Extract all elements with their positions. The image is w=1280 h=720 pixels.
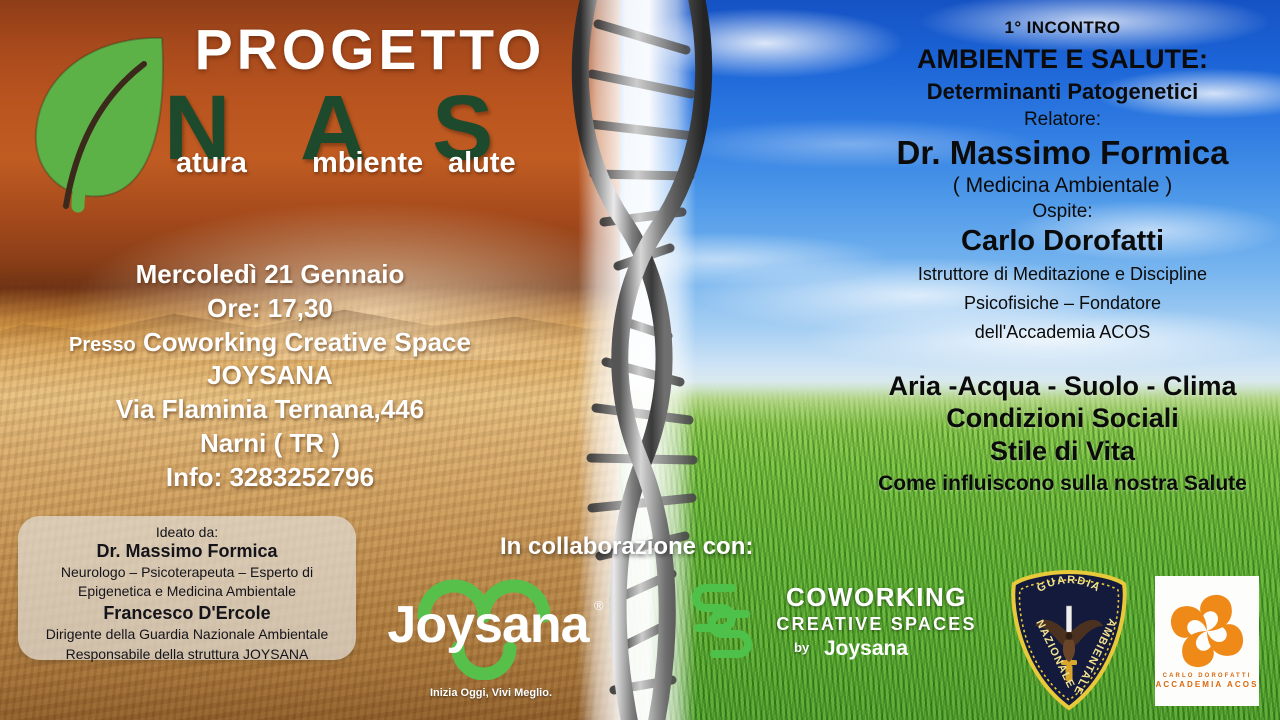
svg-text:®: ®	[594, 598, 604, 613]
coworking-by-word: by	[794, 640, 809, 655]
credits-role-1a: Neurologo – Psicoterapeuta – Esperto di	[18, 563, 356, 581]
talk-guest-bio-2: Psicofisiche – Fondatore	[845, 291, 1280, 316]
logo-coworking: COWORKING CREATIVE SPACES by Joysana	[676, 578, 976, 670]
credits-role-1b: Epigenetica e Medicina Ambientale	[18, 582, 356, 600]
credits-name-2: Francesco D'Ercole	[18, 603, 356, 624]
credits-name-1: Dr. Massimo Formica	[18, 541, 356, 562]
talk-speaker-paren: ( Medicina Ambientale )	[845, 174, 1280, 198]
coworking-line-2: CREATIVE SPACES	[774, 614, 979, 635]
talk-subtitle: Determinanti Patogenetici	[845, 79, 1280, 105]
event-venue-name: JOYSANA	[40, 359, 500, 393]
acos-line-1: CARLO DOROFATTI	[1163, 673, 1252, 679]
brand-block: PROGETTO N A S atura mbiente alute	[160, 22, 580, 181]
coworking-by-line: by Joysana	[794, 634, 914, 660]
theme-line-1: Aria -Acqua - Suolo - Clima	[845, 370, 1280, 402]
talk-guest-bio-3: dell'Accademia ACOS	[845, 320, 1280, 345]
brand-word-ambiente: mbiente	[312, 147, 423, 180]
brand-nas-words: atura mbiente alute	[160, 147, 580, 181]
brand-word-natura: atura	[176, 147, 247, 180]
event-venue-prefix: Presso	[69, 334, 136, 356]
svg-text:Joysana: Joysana	[387, 596, 590, 654]
event-venue-line: Presso Coworking Creative Space	[40, 326, 500, 360]
logo-guardia-nazionale-ambientale: GUARDIA NAZIONALE AMBIENTALE	[1006, 566, 1132, 714]
theme-line-2: Condizioni Sociali	[845, 402, 1280, 434]
acos-line-2: ACCADEMIA ACOS	[1155, 680, 1258, 689]
event-address: Via Flaminia Ternana,446	[40, 393, 500, 427]
svg-text:Joysana: Joysana	[824, 637, 908, 660]
talk-details: 1° INCONTRO AMBIENTE E SALUTE: Determina…	[845, 18, 1280, 346]
theme-line-3: Stile di Vita	[845, 435, 1280, 467]
spiral-icon	[1165, 589, 1249, 673]
brand-word-salute: alute	[448, 147, 516, 180]
credits-lead: Ideato da:	[18, 524, 356, 540]
talk-speaker-name: Dr. Massimo Formica	[845, 134, 1280, 172]
leaf-icon	[22, 28, 172, 218]
talk-title: AMBIENTE E SALUTE:	[845, 44, 1280, 75]
coworking-mark-icon	[676, 578, 768, 664]
brand-progetto: PROGETTO	[160, 22, 580, 79]
theme-line-4: Come influiscono sulla nostra Salute	[845, 471, 1280, 496]
coworking-joysana-icon: Joysana	[818, 634, 914, 660]
event-date: Mercoledì 21 Gennaio	[40, 258, 500, 292]
credits-role-2b: Responsabile della struttura JOYSANA	[18, 645, 356, 663]
coworking-line-1: COWORKING	[774, 582, 979, 613]
event-details: Mercoledì 21 Gennaio Ore: 17,30 Presso C…	[40, 258, 500, 495]
collaboration-heading: In collaborazione con:	[500, 533, 800, 561]
logo-acos: CARLO DOROFATTI ACCADEMIA ACOS	[1155, 576, 1259, 706]
event-time: Ore: 17,30	[40, 292, 500, 326]
talk-guest-bio-1: Istruttore di Meditazione e Discipline	[845, 262, 1280, 287]
coworking-text: COWORKING CREATIVE SPACES	[774, 582, 979, 635]
talk-speaker-label: Relatore:	[845, 109, 1280, 131]
joysana-wordmark-icon: Joysana ®	[366, 568, 616, 680]
credits-box: Ideato da: Dr. Massimo Formica Neurologo…	[18, 516, 356, 660]
poster-canvas: PROGETTO N A S atura mbiente alute Merco…	[0, 0, 1280, 720]
themes-block: Aria -Acqua - Suolo - Clima Condizioni S…	[845, 370, 1280, 496]
event-city: Narni ( TR )	[40, 427, 500, 461]
logo-joysana: Joysana ® Inizia Oggi, Vivi Meglio.	[366, 568, 616, 698]
talk-guest-label: Ospite:	[845, 201, 1280, 223]
talk-guest-name: Carlo Dorofatti	[845, 225, 1280, 258]
event-info: Info: 3283252796	[40, 461, 500, 495]
event-venue: Coworking Creative Space	[143, 327, 471, 357]
joysana-tagline: Inizia Oggi, Vivi Meglio.	[366, 687, 616, 699]
talk-incontro: 1° INCONTRO	[845, 18, 1280, 38]
credits-role-2a: Dirigente della Guardia Nazionale Ambien…	[18, 625, 356, 643]
